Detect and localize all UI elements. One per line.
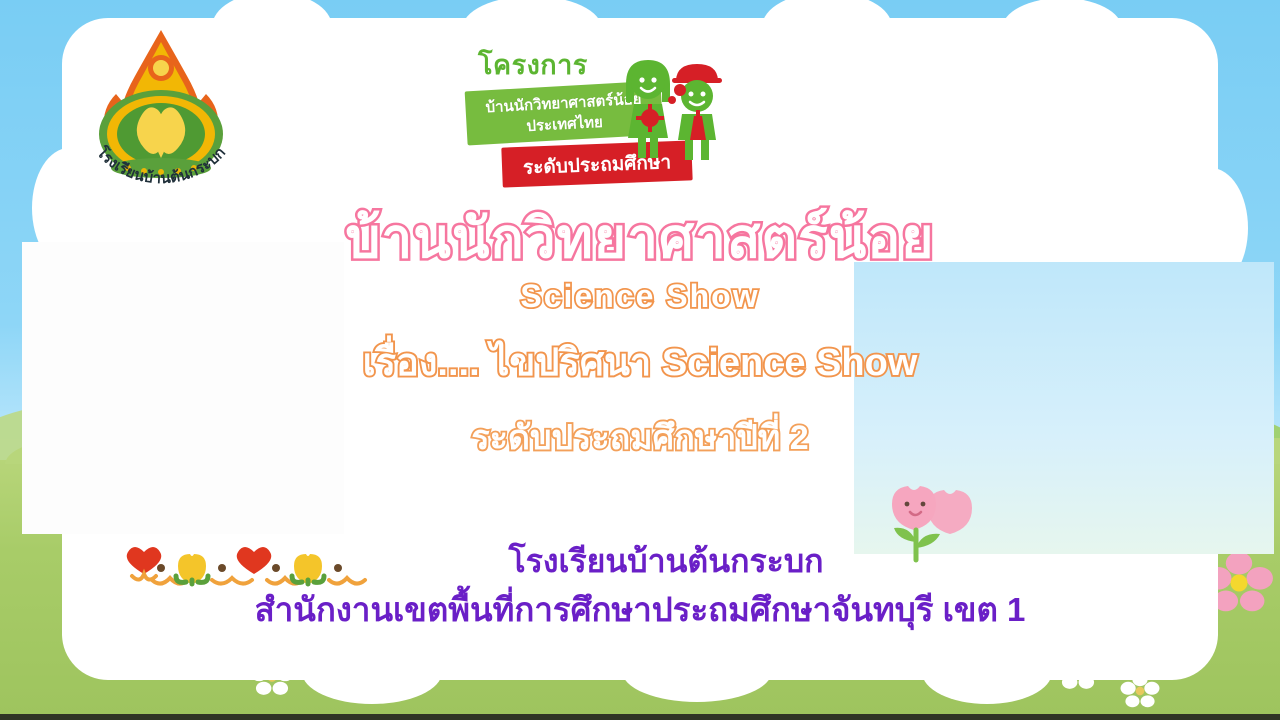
little-scientist-program-logo: โครงการ บ้านนักวิทยาศาสตร์น้อย ประเทศไทย… xyxy=(452,52,720,200)
boy-scientist-icon xyxy=(668,62,726,162)
program-heading: โครงการ xyxy=(478,52,588,79)
title-card-stage: โรงเรียนบ้านต้นกระบก โครงการ บ้านนักวิทย… xyxy=(0,0,1280,720)
bottom-bar xyxy=(0,714,1280,720)
cloud-bump xyxy=(922,640,1052,704)
school-name: โรงเรียนบ้านต้นกระบก xyxy=(0,544,1280,580)
teacher-with-students-photo xyxy=(22,242,344,534)
cloud-bump xyxy=(762,0,892,62)
school-seal: โรงเรียนบ้านต้นกระบก xyxy=(66,22,256,200)
area-office-name: สำนักงานเขตพื้นที่การศึกษาประถมศึกษาจันท… xyxy=(0,592,1280,628)
cloud-bump xyxy=(302,640,442,704)
cloud-bump xyxy=(1002,0,1122,60)
cloud-bump xyxy=(622,640,772,702)
